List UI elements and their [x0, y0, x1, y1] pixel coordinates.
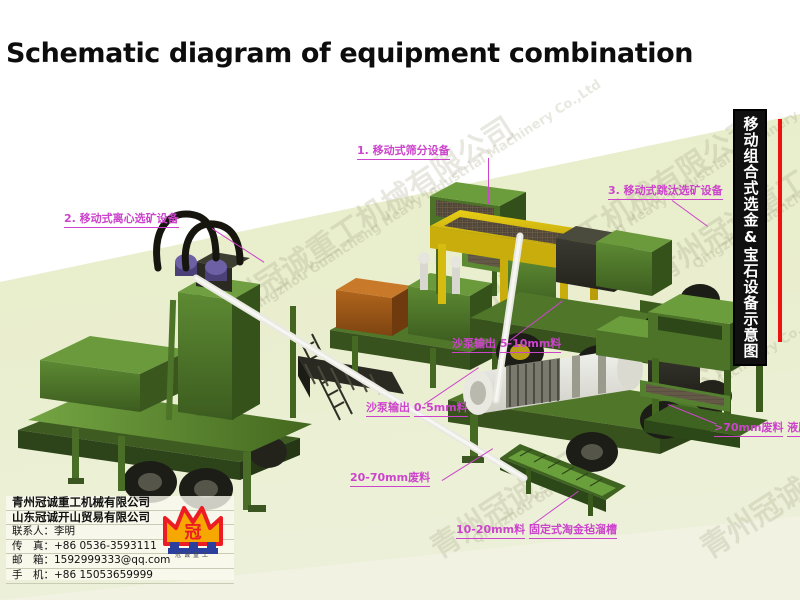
annotation-feed-10-20-line1: 10-20mm料 — [456, 522, 525, 539]
annotation-pump-5-10-line2: 5-10mm料 — [500, 336, 561, 353]
annotation-pump-0-5-line2: 0-5mm料 — [414, 400, 468, 417]
annotation-pump-0-5: 沙泵输出 0-5mm料 — [366, 400, 468, 417]
annotation-waste-over-70: >70mm废料 液压折叠 — [714, 420, 800, 437]
vertical-banner-text: 移动组合式选金&宝石设备示意图 — [743, 116, 758, 359]
callout-equipment-2-text: 2. 移动式离心选矿设备 — [64, 211, 179, 228]
unit-2-centrifugal-plant — [18, 214, 404, 512]
callout-equipment-1-text: 3. 移动式跳汰选矿设备 — [608, 183, 723, 200]
annotation-waste-over-70-line1: >70mm废料 — [714, 420, 783, 437]
callout-equipment-1: 3. 移动式跳汰选矿设备 — [608, 183, 723, 200]
annotation-pump-0-5-line1: 沙泵输出 — [366, 400, 410, 417]
logo-caption: 冠诚重工 — [160, 550, 226, 559]
annotation-waste-20-70-text: 20-70mm废料 — [350, 470, 430, 487]
red-accent-bar — [778, 119, 782, 342]
contact-mobile: 手 机：+86 15053659999 — [6, 569, 234, 584]
crown-icon: 冠 — [160, 498, 226, 570]
company-logo: 冠 冠诚重工 — [160, 498, 226, 570]
logo-mark-char: 冠 — [185, 523, 202, 543]
annotation-feed-10-20: 10-20mm料 固定式淘金毡溜槽 — [456, 522, 617, 539]
vertical-banner: 移动组合式选金&宝石设备示意图 — [733, 109, 767, 366]
annotation-feed-10-20-line2: 固定式淘金毡溜槽 — [529, 522, 617, 539]
leader-line-3 — [418, 158, 489, 204]
annotation-pump-5-10-line1: 沙泵输出 — [452, 336, 496, 353]
callout-equipment-2: 2. 移动式离心选矿设备 — [64, 211, 179, 228]
annotation-pump-5-10: 沙泵输出 5-10mm料 — [452, 336, 561, 353]
annotation-waste-20-70: 20-70mm废料 — [350, 470, 430, 487]
annotation-waste-over-70-line2: 液压折叠 — [787, 420, 800, 437]
page-title: Schematic diagram of equipment combinati… — [6, 38, 693, 69]
schematic-canvas: 青州冠诚重工机械有限公司 Qingzhou Guancheng Heavy In… — [0, 0, 800, 600]
